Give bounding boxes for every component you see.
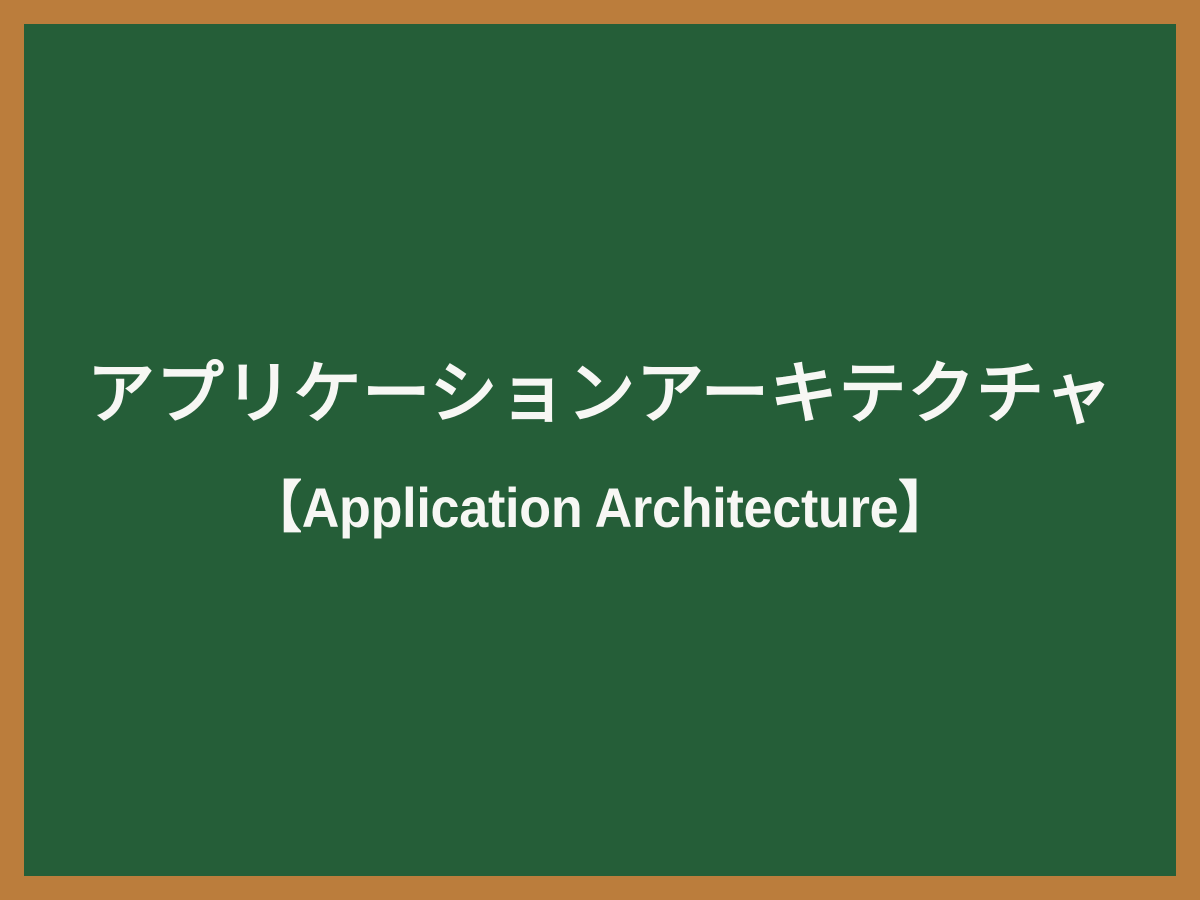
title-slide: アプリケーションアーキテクチャ 【Application Architectur… bbox=[0, 0, 1200, 900]
title-text-block: アプリケーションアーキテクチャ 【Application Architectur… bbox=[24, 358, 1176, 539]
page-subtitle: 【Application Architecture】 bbox=[102, 477, 1099, 539]
chalkboard-panel: アプリケーションアーキテクチャ 【Application Architectur… bbox=[24, 24, 1176, 876]
page-title: アプリケーションアーキテクチャ bbox=[64, 358, 1136, 431]
